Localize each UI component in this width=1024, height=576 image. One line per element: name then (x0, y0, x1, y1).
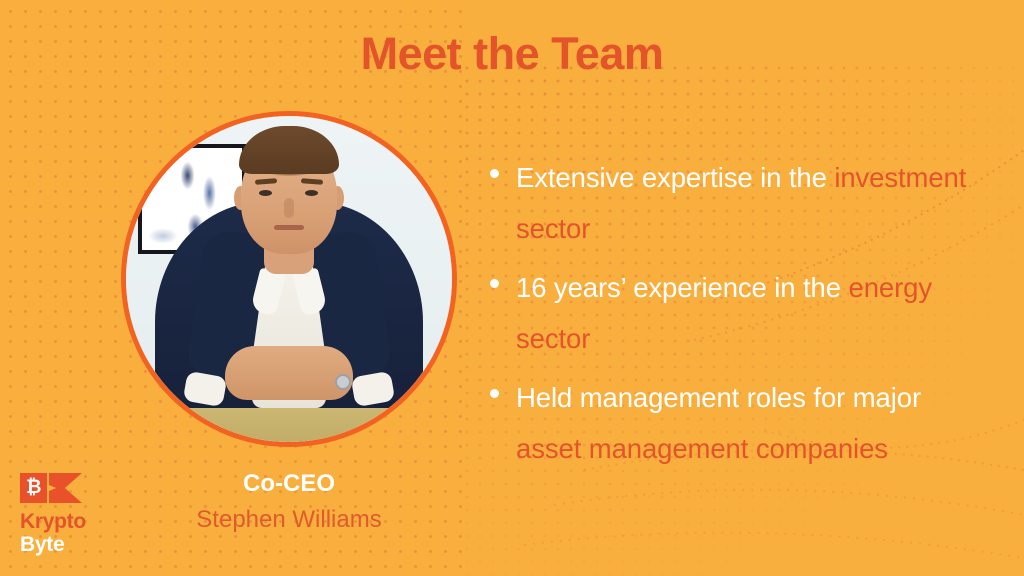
bullet-dot-icon (490, 389, 499, 398)
kryptobyte-mark-icon: ₿ (20, 473, 82, 503)
eye-left (259, 190, 272, 196)
logo-line-byte: Byte (20, 533, 86, 556)
eye-right (305, 190, 318, 196)
bullet-plain: Held management roles for major (516, 382, 921, 413)
bullet-list: Extensive expertise in the investment se… (487, 152, 987, 482)
slide-canvas: Meet the Team (0, 0, 1024, 576)
page-title: Meet the Team (0, 28, 1024, 80)
bullet-text: 16 years’ experience in the energy secto… (516, 262, 987, 364)
bullet-text: Extensive expertise in the investment se… (516, 152, 987, 254)
letter-k-icon (49, 473, 82, 503)
bitcoin-glyph: ₿ (26, 478, 41, 498)
list-item: Extensive expertise in the investment se… (487, 152, 987, 254)
artwork-highlight (148, 228, 178, 244)
member-name: Stephen Williams (121, 506, 457, 534)
clasped-hands (225, 346, 353, 400)
bullet-text: Held management roles for major asset ma… (516, 372, 987, 474)
logo-line-krypto: Krypto (20, 510, 86, 533)
bullet-plain: 16 years’ experience in the (516, 272, 849, 303)
wristwatch (335, 374, 351, 390)
member-role: Co-CEO (121, 470, 457, 498)
mouth (274, 225, 304, 230)
bullet-highlight: asset management companies (516, 433, 888, 464)
nose (284, 198, 294, 218)
bullet-dot-icon (490, 169, 499, 178)
portrait-illustration (126, 116, 452, 442)
team-member-photo (121, 111, 457, 447)
bullet-dot-icon (490, 279, 499, 288)
bullet-plain: Extensive expertise in the (516, 162, 834, 193)
list-item: Held management roles for major asset ma… (487, 372, 987, 474)
list-item: 16 years’ experience in the energy secto… (487, 262, 987, 364)
brand-logo[interactable]: ₿ Krypto Byte (20, 473, 86, 556)
bitcoin-b-badge-icon: ₿ (20, 473, 47, 503)
